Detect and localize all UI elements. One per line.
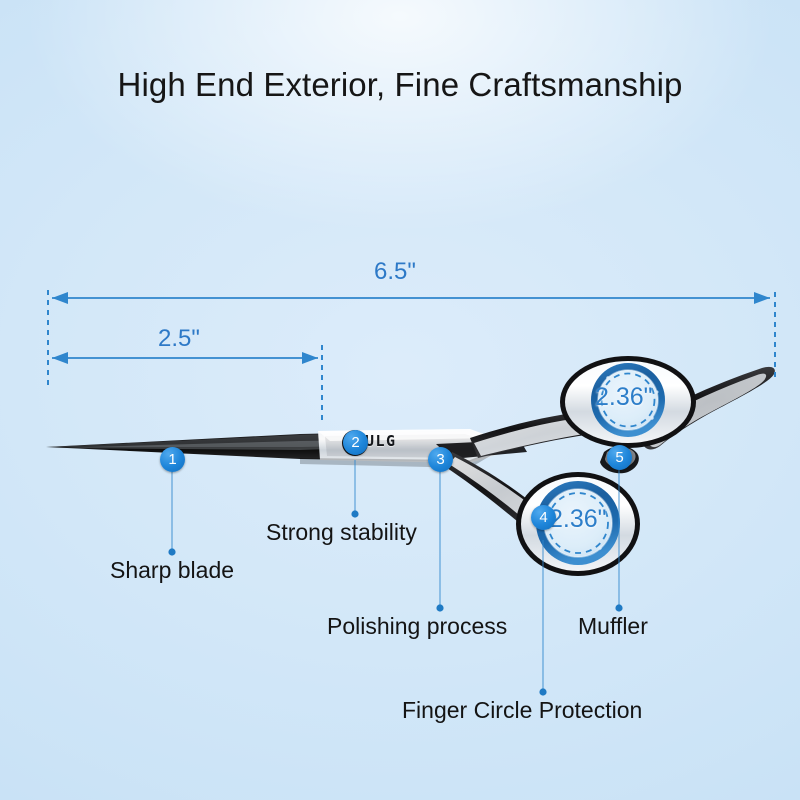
callout-badge-2[interactable]: 2 [343,430,368,455]
dimension-label-overall: 6.5" [374,258,416,286]
callout-label-strong-stability: Strong stability [266,519,417,546]
callout-label-polishing-process: Polishing process [327,613,507,640]
callout-badge-1[interactable]: 1 [160,447,185,472]
callout-label-finger-circle-protection: Finger Circle Protection [402,697,642,724]
brand-logo: ULG [365,432,397,450]
callout-badge-4[interactable]: 4 [531,505,556,530]
callout-label-muffler: Muffler [578,613,648,640]
callout-badge-5[interactable]: 5 [607,445,632,470]
upper-ring-label: 2.36" [595,383,653,412]
callout-label-sharp-blade: Sharp blade [110,557,234,584]
annotation-overlay [0,0,800,800]
dimension-label-blade: 2.5" [158,325,200,353]
lower-ring-label: 2.36" [549,505,607,534]
page-title: High End Exterior, Fine Craftsmanship [0,66,800,104]
infographic-canvas: High End Exterior, Fine Craftsmanship 6.… [0,0,800,800]
callout-badge-3[interactable]: 3 [428,447,453,472]
